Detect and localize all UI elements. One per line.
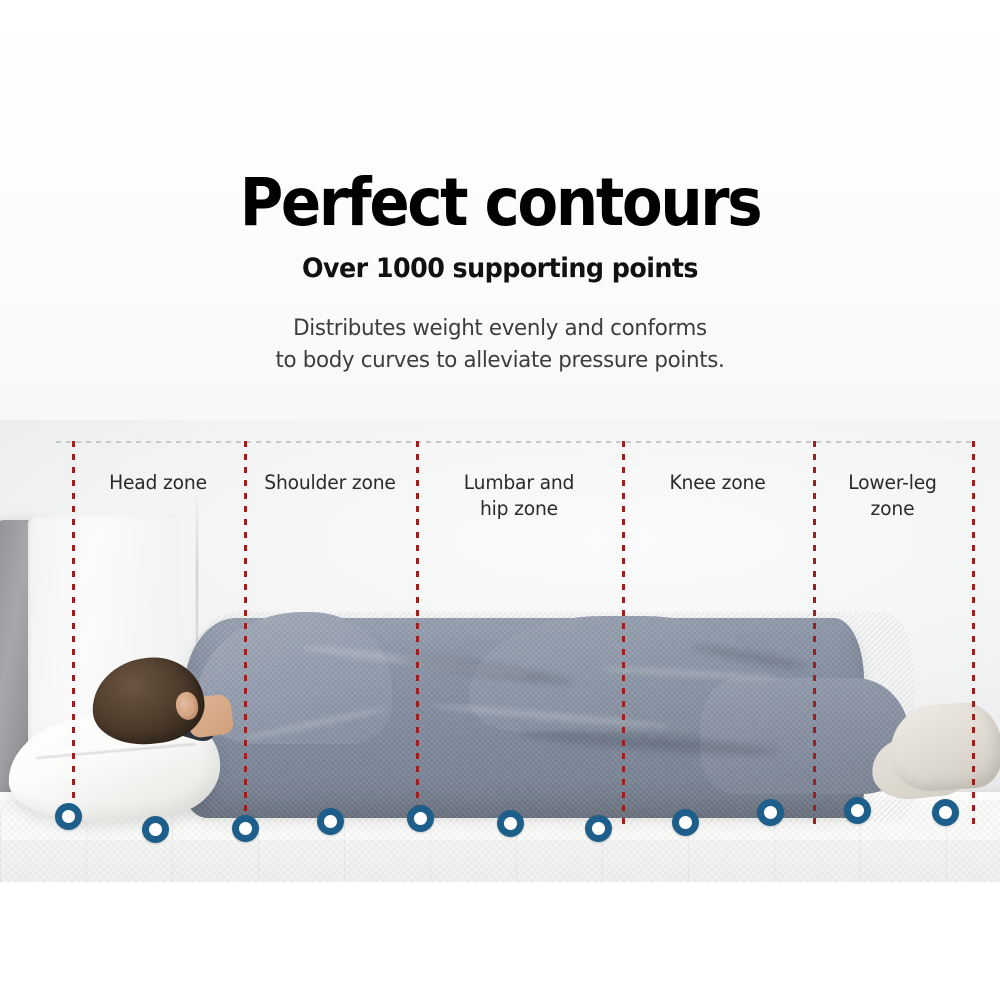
page-subtitle: Over 1000 supporting points [30, 253, 970, 285]
product-photo [0, 420, 1000, 882]
description-line-2: to body curves to alleviate pressure poi… [25, 344, 975, 376]
bottom-white-band [0, 882, 1000, 1000]
infographic-page: Perfect contours Over 1000 supporting po… [0, 0, 1000, 1000]
description-line-1: Distributes weight evenly and conforms [25, 312, 975, 344]
page-description: Distributes weight evenly and conforms t… [25, 312, 975, 376]
page-title: Perfect contours [50, 168, 950, 238]
